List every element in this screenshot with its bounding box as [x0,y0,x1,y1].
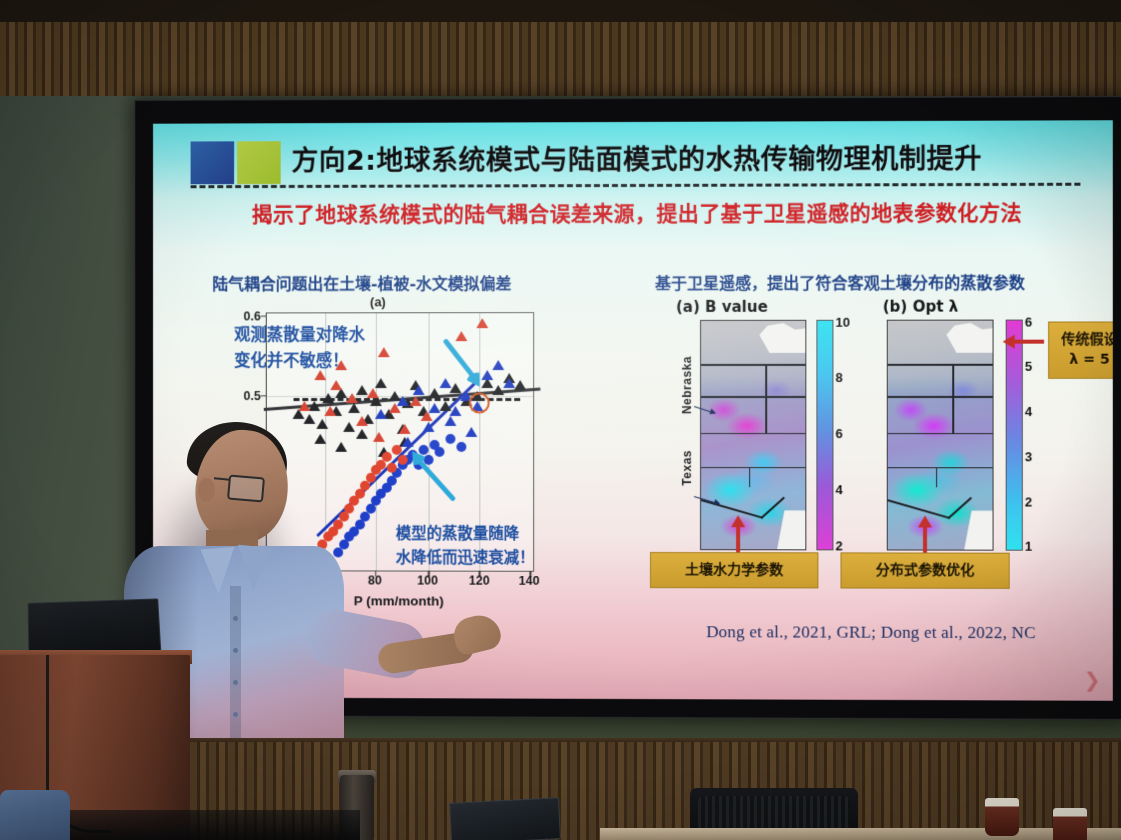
lambda-callout-line1: 传统假设 [1061,330,1113,350]
map-label-texas: Texas [680,450,694,486]
cbar-a-tick-2: 2 [835,538,842,553]
slide-subtitle: 揭示了地球系统模式的陆气耦合误差来源，提出了基于卫星遥感的地表参数化方法 [193,197,1083,229]
cbar-a-tick-6: 6 [835,426,842,441]
ytick-label-0.5: 0.5 [244,389,261,403]
logo-square-green [237,141,281,184]
front-table [600,828,1121,840]
observation-annotation-line1: 观测蒸散量对降水 [234,322,365,348]
cbar-b-tick-6: 6 [1025,314,1032,329]
paper-cup-2 [1053,808,1087,840]
lambda-callout-arrow [1014,340,1044,344]
cbar-a-tick-8: 8 [835,369,842,384]
ytick-label-0.6: 0.6 [244,309,261,323]
map-a-image [700,320,806,551]
left-map-callout-arrow [736,526,740,554]
lambda-callout-line2: λ = 5 [1061,350,1113,370]
logo-square-blue [191,141,235,184]
map-label-nebraska: Nebraska [680,356,694,414]
ytick-mark-0.5 [261,395,267,396]
title-divider [191,183,1081,189]
presenter-ear [198,478,215,502]
xtick-label-120: 120 [469,574,490,588]
slide-title: 方向2:地球系统模式与陆面模式的水热传输物理机制提升 [292,136,1093,178]
cbar-a-tick-4: 4 [835,482,842,497]
map-b-colorbar [1006,320,1023,551]
photo-scene: 方向2:地球系统模式与陆面模式的水热传输物理机制提升 揭示了地球系统模式的陆气耦… [0,0,1121,840]
foreground-audience-shoulder [0,790,70,840]
map-b-image [887,320,994,551]
cbar-b-tick-2: 2 [1025,494,1032,509]
intersection-highlight-circle [469,393,490,414]
cbar-b-tick-4: 4 [1025,403,1032,418]
cbar-b-tick-1: 1 [1025,538,1032,553]
ceiling-shadow-band [0,0,1121,22]
xtick-label-140: 140 [519,574,540,588]
paper-cup-1 [985,798,1019,836]
map-panel-a-title: (a) B value [676,298,768,316]
cbar-a-tick-10: 10 [835,314,850,329]
observation-annotation-line2: 变化并不敏感！ [234,348,365,374]
right-map-callout-arrow [923,526,927,554]
ytick-mark-0.6 [261,315,267,316]
map-panel-b-title: (b) Opt λ [883,298,959,316]
scatter-chart-caption: (a) [204,294,552,309]
right-column-heading: 基于卫星遥感，提出了符合客观土壤分布的蒸散参数 [655,269,1025,294]
map-panel-b-value: (a) B value 10 8 6 4 2 [666,298,857,561]
left-map-callout: 土壤水力学参数 [650,552,818,589]
map-panel-opt-lambda: (b) Opt λ 6 5 4 3 2 [867,297,1059,560]
lambda-assumption-callout: 传统假设 λ = 5 [1048,321,1113,378]
observation-annotation: 观测蒸散量对降水 变化并不敏感！ [234,322,365,373]
map-a-colorbar [816,320,833,551]
glasses-icon [227,474,265,502]
foreground-laptop[interactable] [449,797,561,840]
cbar-b-tick-5: 5 [1025,358,1032,373]
chevron-right-icon[interactable]: ❯ [1084,667,1101,692]
left-column-heading: 陆气耦合问题出在土壤-植被-水文模拟偏差 [212,270,511,294]
right-map-callout: 分布式参数优化 [840,552,1009,589]
citation-text: Dong et al., 2021, GRL; Dong et al., 202… [650,622,1093,643]
cbar-b-tick-3: 3 [1025,449,1032,464]
